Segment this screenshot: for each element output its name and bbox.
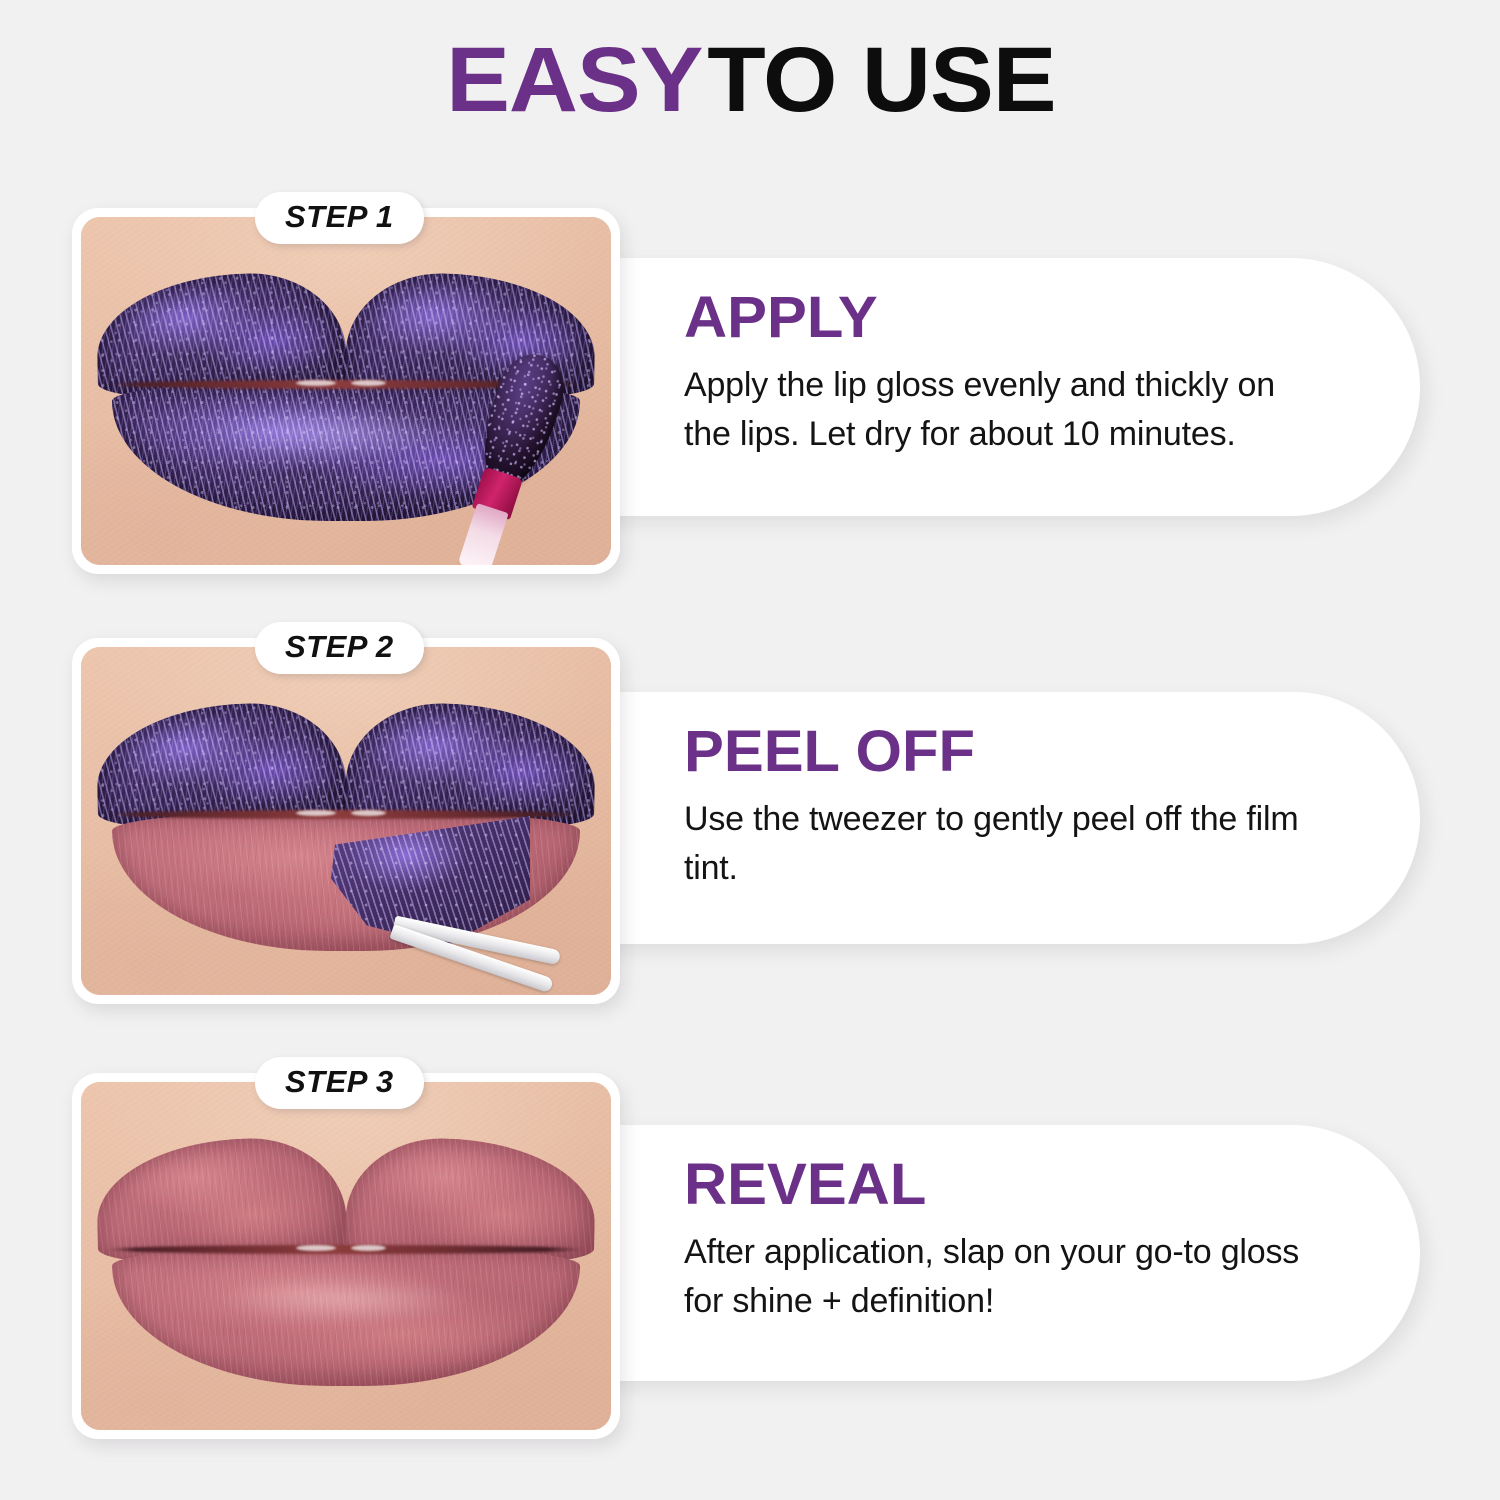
page-title-accent-word: EASY [446, 34, 702, 126]
step-row-3: REVEAL After application, slap on your g… [0, 1051, 1500, 1451]
upper-lip [97, 1131, 595, 1261]
step-2-badge: STEP 2 [255, 622, 424, 674]
step-2-text-panel: PEEL OFF Use the tweezer to gently peel … [560, 692, 1420, 944]
upper-lip [97, 696, 595, 826]
step-2-image-card [72, 638, 620, 1004]
step-1-body-text: Apply the lip gloss evenly and thickly o… [684, 361, 1300, 459]
step-1-badge: STEP 1 [255, 192, 424, 244]
lips-revealed-rose [97, 1131, 595, 1382]
step-3-image-card [72, 1073, 620, 1439]
step-1-text-panel: APPLY Apply the lip gloss evenly and thi… [560, 258, 1420, 516]
mouth-line [107, 1245, 585, 1254]
step-2-heading: PEEL OFF [684, 722, 1318, 781]
step-2-image [81, 647, 611, 995]
step-3-heading: REVEAL [684, 1155, 1318, 1214]
lower-lip-sheen [216, 1276, 475, 1323]
step-1-heading: APPLY [684, 288, 1318, 347]
step-3-badge: STEP 3 [255, 1057, 424, 1109]
mouth-line [107, 810, 585, 819]
step-1-image [81, 217, 611, 565]
lips-peeling [97, 696, 595, 947]
step-1-image-card [72, 208, 620, 574]
step-row-1: APPLY Apply the lip gloss evenly and thi… [0, 186, 1500, 586]
lower-lip [97, 1248, 595, 1386]
step-3-body-text: After application, slap on your go-to gl… [684, 1228, 1300, 1326]
step-2-body-text: Use the tweezer to gently peel off the f… [684, 795, 1300, 893]
page-title-dark-word: TO USE [707, 34, 1055, 126]
step-row-2: PEEL OFF Use the tweezer to gently peel … [0, 616, 1500, 1016]
step-3-text-panel: REVEAL After application, slap on your g… [560, 1125, 1420, 1381]
wand-stem [457, 503, 508, 565]
page-title: EASYTO USE [0, 34, 1500, 126]
step-3-image [81, 1082, 611, 1430]
